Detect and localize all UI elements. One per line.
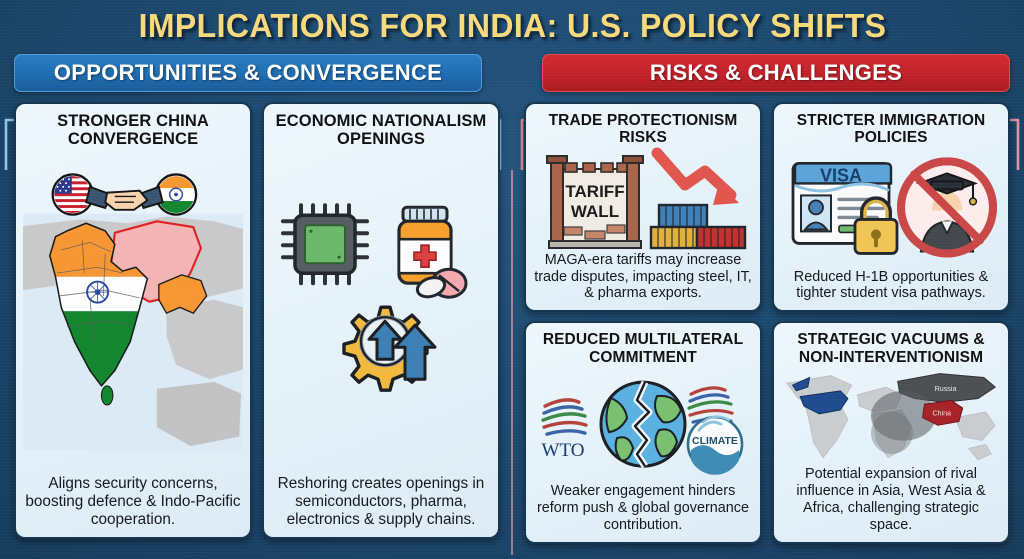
banner-risks: RISKS & CHALLENGES [542, 54, 1010, 92]
banner-opportunities-label: OPPORTUNITIES & CONVERGENCE [54, 60, 442, 86]
opportunities-column: STRONGER CHINA CONVERGENCE [14, 102, 500, 539]
card-economic-nationalism-openings[interactable]: ECONOMIC NATIONALISM OPENINGS [262, 102, 500, 539]
card-body: MAGA-era tariffs may increase trade disp… [533, 252, 753, 303]
card-title: ECONOMIC NATIONALISM OPENINGS [271, 112, 491, 149]
china-label: China [932, 410, 951, 418]
tariff-wall-label-2: WALL [571, 202, 619, 221]
card-title: REDUCED MULTILATERAL COMMITMENT [533, 331, 753, 366]
shipping-containers-icon [651, 205, 745, 248]
climate-badge-icon: CLIMATE [688, 417, 742, 475]
card-title: STRONGER CHINA CONVERGENCE [23, 112, 243, 149]
card-body: Reduced H-1B opportunities & tighter stu… [781, 269, 1001, 303]
no-graduate-icon [901, 161, 993, 253]
card-artwork: TARIFF WALL [533, 147, 753, 252]
visa-label: VISA [820, 165, 862, 185]
card-trade-protectionism-risks[interactable]: TRADE PROTECTIONISM RISKS [524, 102, 762, 312]
tariff-wall-label-1: TARIFF [565, 182, 624, 201]
card-title: STRATEGIC VACUUMS & NON-INTERVENTIONISM [781, 331, 1001, 366]
card-artwork: WTO [533, 366, 753, 483]
tariff-wall-icon: TARIFF WALL [547, 156, 643, 248]
wto-logo-icon: WTO [542, 400, 586, 461]
card-artwork [271, 149, 491, 475]
content-columns: STRONGER CHINA CONVERGENCE [0, 94, 1024, 549]
card-strategic-vacuums-non-interventionism[interactable]: STRATEGIC VACUUMS & NON-INTERVENTIONISM [772, 321, 1010, 544]
asia-map-icon [23, 149, 243, 475]
world-map-icon: Russia China [781, 366, 1001, 466]
card-artwork: Russia China [781, 366, 1001, 466]
wto-label: WTO [542, 440, 585, 461]
card-stricter-immigration-policies[interactable]: STRICTER IMMIGRATION POLICIES VISA [772, 102, 1010, 312]
card-title: STRICTER IMMIGRATION POLICIES [781, 112, 1001, 147]
risks-row-bottom: REDUCED MULTILATERAL COMMITMENT [524, 321, 1010, 544]
card-artwork: VISA [781, 147, 1001, 269]
card-body: Reshoring creates openings in semiconduc… [271, 475, 491, 529]
header: IMPLICATIONS FOR INDIA: U.S. POLICY SHIF… [0, 0, 1024, 52]
climate-label: CLIMATE [692, 435, 738, 447]
card-title: TRADE PROTECTIONISM RISKS [533, 112, 753, 147]
cracked-globe-icon [601, 382, 685, 466]
card-reduced-multilateral-commitment[interactable]: REDUCED MULTILATERAL COMMITMENT [524, 321, 762, 544]
card-body: Weaker engagement hinders reform push & … [533, 483, 753, 534]
card-stronger-china-convergence[interactable]: STRONGER CHINA CONVERGENCE [14, 102, 252, 539]
card-body: Potential expansion of rival influence i… [781, 466, 1001, 533]
banner-opportunities: OPPORTUNITIES & CONVERGENCE [14, 54, 482, 92]
declining-arrow-icon [657, 153, 739, 205]
handshake-icon [53, 174, 196, 214]
risks-column: TRADE PROTECTIONISM RISKS [524, 102, 1010, 539]
card-artwork [23, 149, 243, 475]
risks-row-top: TRADE PROTECTIONISM RISKS [524, 102, 1010, 312]
section-banner-row: OPPORTUNITIES & CONVERGENCE RISKS & CHAL… [0, 52, 1024, 94]
russia-label: Russia [935, 385, 957, 393]
card-body: Aligns security concerns, boosting defen… [23, 475, 243, 529]
microchip-icon [283, 205, 367, 283]
page-title: IMPLICATIONS FOR INDIA: U.S. POLICY SHIF… [138, 7, 886, 45]
pill-bottle-icon [399, 207, 466, 300]
banner-risks-label: RISKS & CHALLENGES [650, 60, 902, 86]
gear-arrows-icon [344, 307, 435, 390]
